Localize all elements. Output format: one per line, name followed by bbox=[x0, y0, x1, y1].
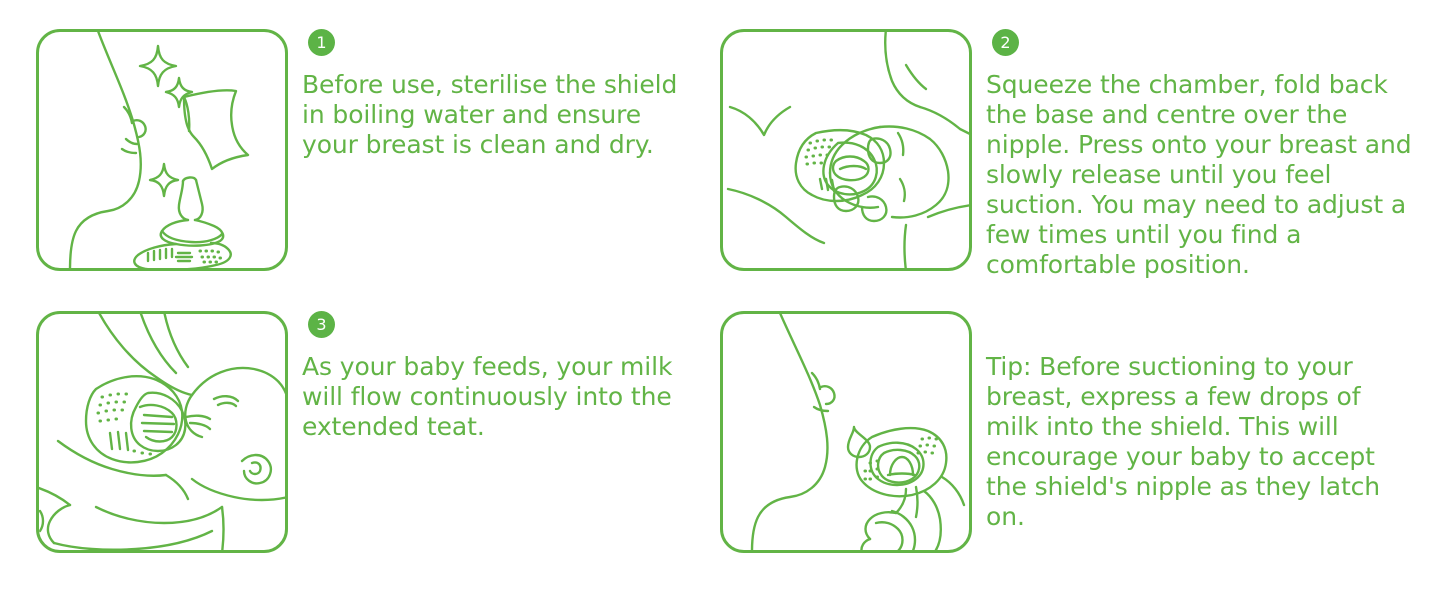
step-4-caption: Tip: Before suctioning to your breast, e… bbox=[986, 352, 1416, 532]
apply-shield-illustration bbox=[720, 29, 972, 271]
step-number-badge-1: 1 bbox=[308, 29, 335, 56]
sterilise-shield-illustration bbox=[36, 29, 288, 271]
step-1: 1 Before use, sterilise the shield in bo… bbox=[36, 29, 684, 271]
step-2-copy: 2 Squeeze the chamber, fold back the bas… bbox=[972, 29, 1416, 280]
step-3-copy: 3 As your baby feeds, your milk will flo… bbox=[288, 311, 684, 442]
tip-badge-placeholder bbox=[986, 311, 1416, 352]
step-1-caption: Before use, sterilise the shield in boil… bbox=[302, 70, 684, 160]
step-3: 3 As your baby feeds, your milk will flo… bbox=[36, 311, 684, 553]
step-4-tip: Tip: Before suctioning to your breast, e… bbox=[720, 311, 1416, 553]
step-number-badge-2: 2 bbox=[992, 29, 1019, 56]
baby-feeding-illustration bbox=[36, 311, 288, 553]
step-2: 2 Squeeze the chamber, fold back the bas… bbox=[720, 29, 1416, 280]
express-milk-tip-illustration bbox=[720, 311, 972, 553]
instruction-steps-grid: 1 Before use, sterilise the shield in bo… bbox=[0, 0, 1445, 592]
step-2-caption: Squeeze the chamber, fold back the base … bbox=[986, 70, 1416, 280]
step-1-copy: 1 Before use, sterilise the shield in bo… bbox=[288, 29, 684, 160]
step-3-caption: As your baby feeds, your milk will flow … bbox=[302, 352, 684, 442]
step-4-copy: Tip: Before suctioning to your breast, e… bbox=[972, 311, 1416, 532]
step-number-badge-3: 3 bbox=[308, 311, 335, 338]
